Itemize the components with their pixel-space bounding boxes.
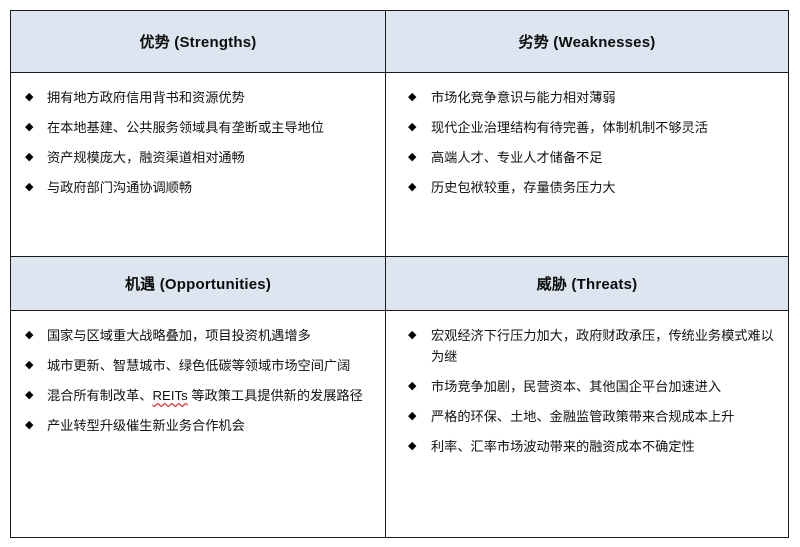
list-item-text: 现代企业治理结构有待完善，体制机制不够灵活 <box>431 120 708 135</box>
list-item-text: 在本地基建、公共服务领域具有垄断或主导地位 <box>47 120 324 135</box>
list-item-text: 宏观经济下行压力加大，政府财政承压，传统业务模式难以为继 <box>431 328 774 364</box>
diamond-bullet-icon: ◆ <box>408 117 416 138</box>
list-item: ◆ 宏观经济下行压力加大，政府财政承压，传统业务模式难以为继 <box>400 325 782 367</box>
list-item-text: 高端人才、专业人才储备不足 <box>431 150 602 165</box>
diamond-bullet-icon: ◆ <box>25 177 33 198</box>
list-item-text: 严格的环保、土地、金融监管政策带来合规成本上升 <box>431 409 734 424</box>
list-item: ◆ 产业转型升级催生新业务合作机会 <box>17 415 375 436</box>
list-item: ◆ 利率、汇率市场波动带来的融资成本不确定性 <box>400 436 782 457</box>
diamond-bullet-icon: ◆ <box>25 87 33 108</box>
list-item: ◆ 历史包袱较重，存量债务压力大 <box>400 177 782 198</box>
list-item-text: 城市更新、智慧城市、绿色低碳等领域市场空间广阔 <box>47 358 350 373</box>
list-item: ◆ 拥有地方政府信用背书和资源优势 <box>17 87 375 108</box>
list-item-text: 利率、汇率市场波动带来的融资成本不确定性 <box>431 439 695 454</box>
quadrant-strengths-body: ◆ 拥有地方政府信用背书和资源优势 ◆ 在本地基建、公共服务领域具有垄断或主导地… <box>11 73 385 256</box>
list-item: ◆ 与政府部门沟通协调顺畅 <box>17 177 375 198</box>
list-item-text: 历史包袱较重，存量债务压力大 <box>431 180 616 195</box>
list-item: ◆ 高端人才、专业人才储备不足 <box>400 147 782 168</box>
threats-list: ◆ 宏观经济下行压力加大，政府财政承压，传统业务模式难以为继 ◆ 市场竞争加剧，… <box>400 325 782 457</box>
list-item: ◆ 资产规模庞大，融资渠道相对通畅 <box>17 147 375 168</box>
quadrant-threats: 威胁 (Threats) ◆ 宏观经济下行压力加大，政府财政承压，传统业务模式难… <box>385 256 788 537</box>
quadrant-opportunities: 机遇 (Opportunities) ◆ 国家与区域重大战略叠加，项目投资机遇增… <box>11 256 385 537</box>
diamond-bullet-icon: ◆ <box>408 325 416 346</box>
quadrant-opportunities-body: ◆ 国家与区域重大战略叠加，项目投资机遇增多 ◆ 城市更新、智慧城市、绿色低碳等… <box>11 311 385 537</box>
strengths-list: ◆ 拥有地方政府信用背书和资源优势 ◆ 在本地基建、公共服务领域具有垄断或主导地… <box>17 87 375 198</box>
list-item-text: 资产规模庞大，融资渠道相对通畅 <box>47 150 245 165</box>
swot-matrix: 优势 (Strengths) ◆ 拥有地方政府信用背书和资源优势 ◆ 在本地基建… <box>10 10 789 538</box>
quadrant-weaknesses-body: ◆ 市场化竞争意识与能力相对薄弱 ◆ 现代企业治理结构有待完善，体制机制不够灵活… <box>386 73 788 256</box>
diamond-bullet-icon: ◆ <box>25 147 33 168</box>
list-item: ◆ 混合所有制改革、REITs 等政策工具提供新的发展路径 <box>17 385 375 406</box>
diamond-bullet-icon: ◆ <box>408 87 416 108</box>
list-item: ◆ 严格的环保、土地、金融监管政策带来合规成本上升 <box>400 406 782 427</box>
diamond-bullet-icon: ◆ <box>408 406 416 427</box>
list-item-text-after: 等政策工具提供新的发展路径 <box>188 388 363 403</box>
quadrant-threats-title: 威胁 (Threats) <box>386 257 788 311</box>
misspelled-term: REITs <box>153 388 188 403</box>
quadrant-weaknesses-title: 劣势 (Weaknesses) <box>386 11 788 73</box>
list-item: ◆ 城市更新、智慧城市、绿色低碳等领域市场空间广阔 <box>17 355 375 376</box>
list-item-text: 国家与区域重大战略叠加，项目投资机遇增多 <box>47 328 311 343</box>
list-item: ◆ 现代企业治理结构有待完善，体制机制不够灵活 <box>400 117 782 138</box>
list-item: ◆ 国家与区域重大战略叠加，项目投资机遇增多 <box>17 325 375 346</box>
diamond-bullet-icon: ◆ <box>25 325 33 346</box>
quadrant-opportunities-title: 机遇 (Opportunities) <box>11 257 385 311</box>
diamond-bullet-icon: ◆ <box>25 385 33 406</box>
list-item-text: 产业转型升级催生新业务合作机会 <box>47 418 245 433</box>
list-item: ◆ 市场竞争加剧，民营资本、其他国企平台加速进入 <box>400 376 782 397</box>
list-item-text: 市场竞争加剧，民营资本、其他国企平台加速进入 <box>431 379 721 394</box>
diamond-bullet-icon: ◆ <box>408 436 416 457</box>
weaknesses-list: ◆ 市场化竞争意识与能力相对薄弱 ◆ 现代企业治理结构有待完善，体制机制不够灵活… <box>400 87 782 198</box>
quadrant-threats-body: ◆ 宏观经济下行压力加大，政府财政承压，传统业务模式难以为继 ◆ 市场竞争加剧，… <box>386 311 788 537</box>
diamond-bullet-icon: ◆ <box>408 376 416 397</box>
opportunities-list: ◆ 国家与区域重大战略叠加，项目投资机遇增多 ◆ 城市更新、智慧城市、绿色低碳等… <box>17 325 375 436</box>
list-item-text-before: 混合所有制改革、 <box>47 388 153 403</box>
diamond-bullet-icon: ◆ <box>25 355 33 376</box>
quadrant-strengths: 优势 (Strengths) ◆ 拥有地方政府信用背书和资源优势 ◆ 在本地基建… <box>11 11 385 256</box>
diamond-bullet-icon: ◆ <box>25 117 33 138</box>
list-item: ◆ 市场化竞争意识与能力相对薄弱 <box>400 87 782 108</box>
diamond-bullet-icon: ◆ <box>408 147 416 168</box>
quadrant-strengths-title: 优势 (Strengths) <box>11 11 385 73</box>
list-item-text: 与政府部门沟通协调顺畅 <box>47 180 192 195</box>
diamond-bullet-icon: ◆ <box>25 415 33 436</box>
quadrant-weaknesses: 劣势 (Weaknesses) ◆ 市场化竞争意识与能力相对薄弱 ◆ 现代企业治… <box>385 11 788 256</box>
list-item: ◆ 在本地基建、公共服务领域具有垄断或主导地位 <box>17 117 375 138</box>
list-item-text: 拥有地方政府信用背书和资源优势 <box>47 90 245 105</box>
diamond-bullet-icon: ◆ <box>408 177 416 198</box>
list-item-text: 市场化竞争意识与能力相对薄弱 <box>431 90 616 105</box>
